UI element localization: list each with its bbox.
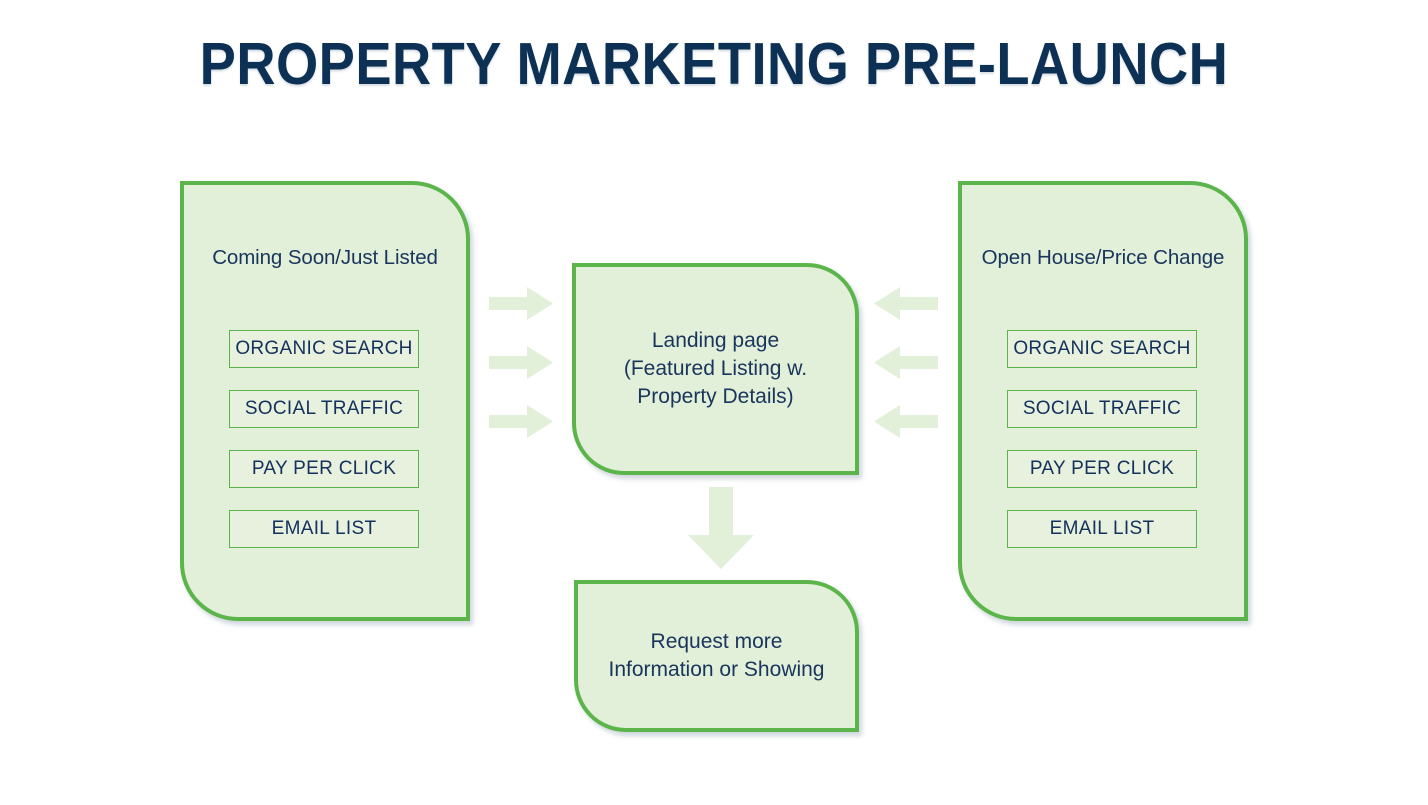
request-info-box: Request more Information or Showing [574,580,859,732]
landing-page-line-1: Landing page [624,327,807,355]
right-channel-organic-search[interactable]: ORGANIC SEARCH [1007,330,1197,368]
arrow-left-icon-2 [874,346,938,379]
landing-page-line-3: Property Details) [624,383,807,411]
page-title: PROPERTY MARKETING PRE-LAUNCH [57,34,1371,96]
right-panel-title: Open House/Price Change [962,245,1244,271]
right-channel-label: ORGANIC SEARCH [1013,338,1190,360]
left-channel-label: ORGANIC SEARCH [235,338,412,360]
arrow-right-icon-2 [489,346,553,379]
right-channel-social-traffic[interactable]: SOCIAL TRAFFIC [1007,390,1197,428]
landing-page-line-2: (Featured Listing w. [624,355,807,383]
arrow-left-icon-1 [874,287,938,320]
left-channel-pay-per-click[interactable]: PAY PER CLICK [229,450,419,488]
left-channel-organic-search[interactable]: ORGANIC SEARCH [229,330,419,368]
left-channel-social-traffic[interactable]: SOCIAL TRAFFIC [229,390,419,428]
arrow-down-icon-1 [688,487,754,569]
left-campaign-panel: Coming Soon/Just Listed ORGANIC SEARCH S… [180,181,470,621]
landing-page-box: Landing page (Featured Listing w. Proper… [572,263,859,475]
right-channel-pay-per-click[interactable]: PAY PER CLICK [1007,450,1197,488]
left-channel-email-list[interactable]: EMAIL LIST [229,510,419,548]
right-channel-label: SOCIAL TRAFFIC [1023,398,1181,420]
right-campaign-panel: Open House/Price Change ORGANIC SEARCH S… [958,181,1248,621]
arrow-right-icon-3 [489,405,553,438]
left-channel-label: PAY PER CLICK [252,458,396,480]
right-channel-label: PAY PER CLICK [1030,458,1174,480]
slide-canvas: PROPERTY MARKETING PRE-LAUNCH Coming Soo… [0,0,1428,805]
request-info-line-2: Information or Showing [609,656,825,684]
left-channel-label: EMAIL LIST [272,518,377,540]
right-channel-label: EMAIL LIST [1050,518,1155,540]
arrow-left-icon-3 [874,405,938,438]
right-channel-email-list[interactable]: EMAIL LIST [1007,510,1197,548]
left-panel-title: Coming Soon/Just Listed [184,245,466,271]
arrow-right-icon-1 [489,287,553,320]
request-info-line-1: Request more [609,628,825,656]
left-channel-label: SOCIAL TRAFFIC [245,398,403,420]
